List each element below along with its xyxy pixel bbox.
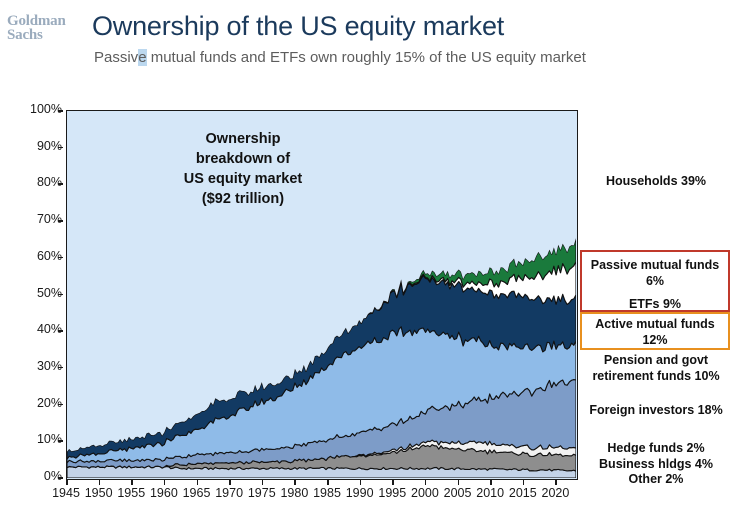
x-tick-mark [99, 480, 101, 485]
y-tick-label: 70% [6, 212, 62, 226]
y-tick-label: 60% [6, 249, 62, 263]
y-tick-label: 20% [6, 396, 62, 410]
subtitle-pre: Passiv [94, 49, 138, 66]
legend-label-active-line1: Active mutual funds [582, 317, 728, 333]
y-tick-label: 30% [6, 359, 62, 373]
annotation-line-1: Ownership [148, 129, 338, 149]
callout-active-mutual-funds: Active mutual funds 12% [580, 312, 730, 350]
legend-label-hedge-funds: Hedge funds 2% [583, 441, 729, 457]
legend-label-etfs: ETFs 9% [582, 297, 728, 313]
brand-line-2: Sachs [7, 28, 87, 42]
x-tick-mark [294, 480, 296, 485]
x-axis: 1945195019551960196519701975198019851990… [66, 480, 578, 504]
callout-spacer [582, 289, 728, 297]
x-tick-mark [66, 480, 68, 485]
subtitle-post: mutual funds and ETFs own roughly 15% of… [147, 49, 586, 66]
legend-label-active-line2: 12% [582, 333, 728, 349]
annotation-line-4: ($92 trillion) [148, 189, 338, 209]
legend-label-passive-line1: Passive mutual funds [582, 258, 728, 274]
x-tick-mark [164, 480, 166, 485]
chart-annotation: Ownership breakdown of US equity market … [148, 129, 338, 209]
x-tick-mark [131, 480, 133, 485]
legend-label-pension-line2: retirement funds 10% [583, 369, 729, 385]
annotation-line-2: breakdown of [148, 149, 338, 169]
x-tick-mark [197, 480, 199, 485]
goldman-sachs-logo: Goldman Sachs [7, 14, 87, 42]
legend-label-passive-line2: 6% [582, 274, 728, 290]
x-tick-mark [458, 480, 460, 485]
legend-label-foreign-investors: Foreign investors 18% [583, 403, 729, 419]
y-tick-label: 10% [6, 432, 62, 446]
legend-label-pension-line1: Pension and govt [583, 353, 729, 369]
callout-passive-etfs: Passive mutual funds 6% ETFs 9% [580, 250, 730, 312]
y-tick-label: 50% [6, 286, 62, 300]
page-subtitle: Passive mutual funds and ETFs own roughl… [94, 48, 586, 67]
legend-label-other: Other 2% [583, 472, 729, 488]
x-tick-mark [523, 480, 525, 485]
y-tick-label: 80% [6, 175, 62, 189]
x-tick-mark [262, 480, 264, 485]
x-tick-mark [555, 480, 557, 485]
legend-label-households: Households 39% [583, 174, 729, 190]
slide-root: Goldman Sachs Ownership of the US equity… [0, 0, 731, 505]
x-tick-mark [490, 480, 492, 485]
y-tick-label: 100% [6, 102, 62, 116]
x-tick-mark [327, 480, 329, 485]
x-tick-mark [229, 480, 231, 485]
x-tick-mark [360, 480, 362, 485]
y-tick-label: 0% [6, 469, 62, 483]
page-title: Ownership of the US equity market [92, 10, 504, 42]
y-tick-label: 90% [6, 139, 62, 153]
x-tick-mark [392, 480, 394, 485]
subtitle-highlight: e [138, 49, 146, 66]
legend-label-pension: Pension and govt retirement funds 10% [583, 353, 729, 384]
brand-line-1: Goldman [7, 14, 87, 28]
annotation-line-3: US equity market [148, 169, 338, 189]
x-tick-label: 2020 [535, 486, 575, 500]
y-axis: 0%10%20%30%40%50%60%70%80%90%100% [0, 110, 62, 480]
y-tick-label: 40% [6, 322, 62, 336]
legend-label-business-holdings: Business hldgs 4% [583, 457, 729, 473]
legend-label-small-group: Hedge funds 2% Business hldgs 4% Other 2… [583, 441, 729, 488]
x-tick-mark [425, 480, 427, 485]
